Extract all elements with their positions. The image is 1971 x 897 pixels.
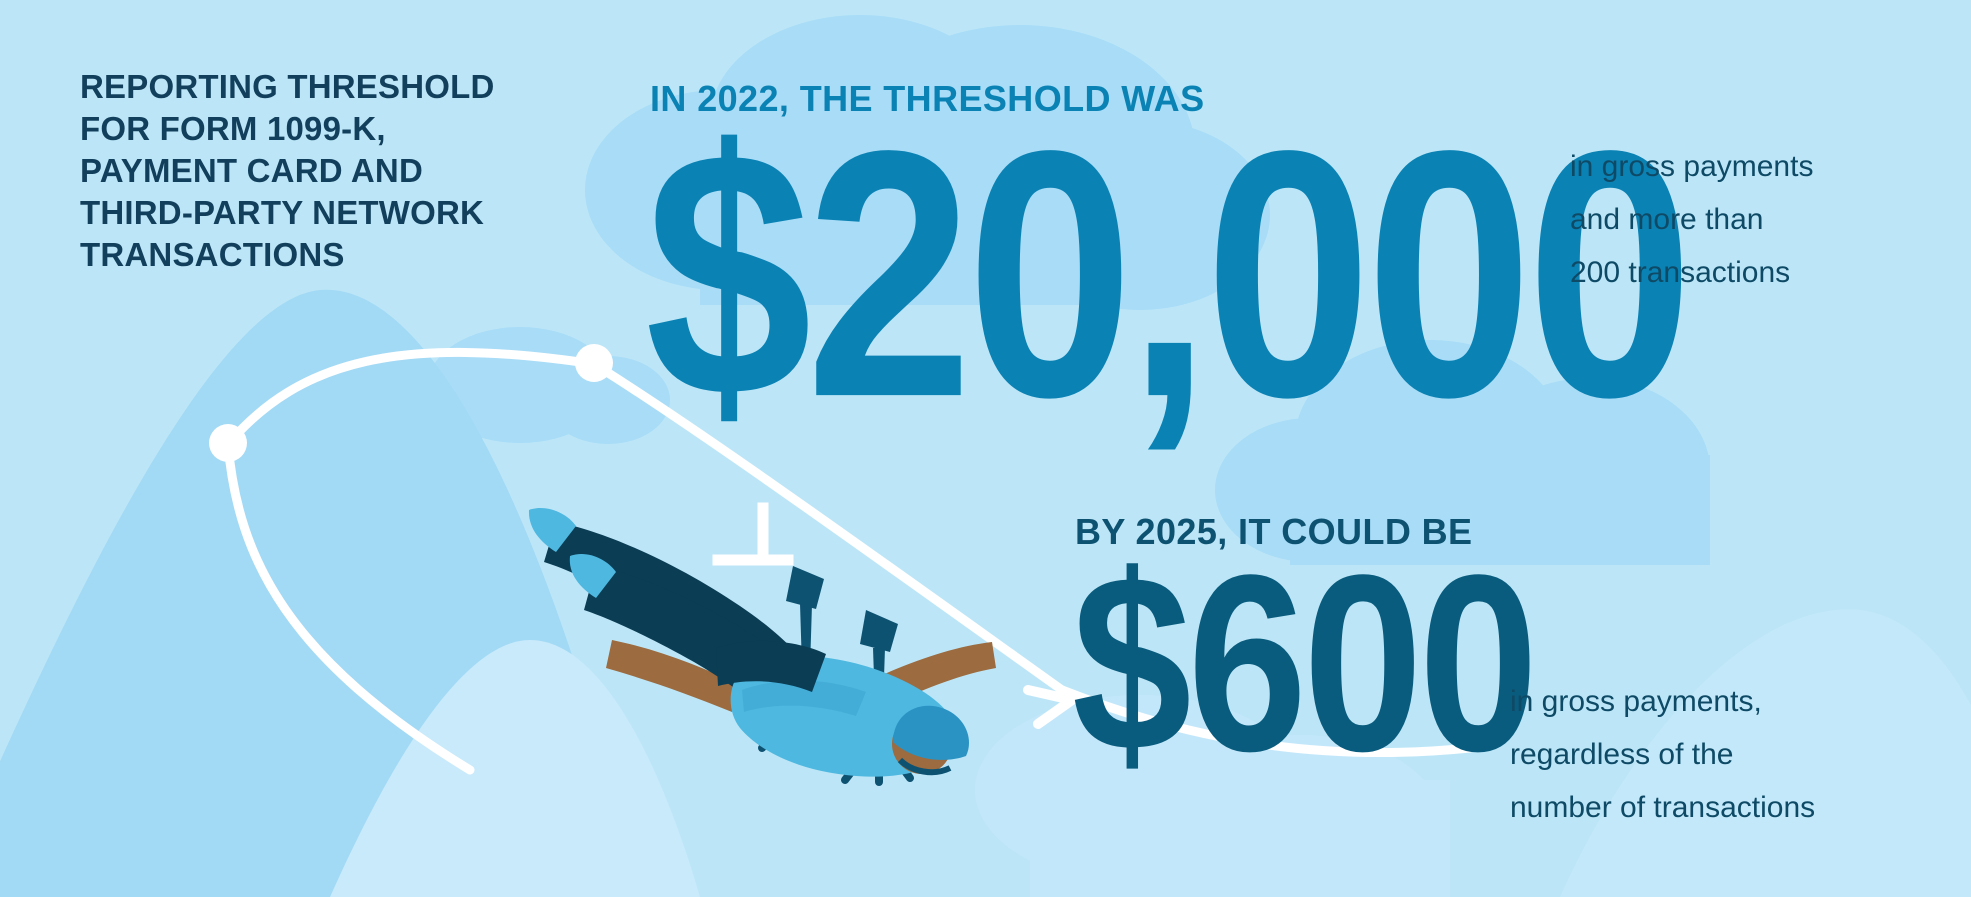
stat-2022-amount: $20,000 [645,98,1687,449]
title-line-1: REPORTING THRESHOLD [80,66,600,108]
stat-2025-amount: $600 [1072,537,1534,789]
title-line-2: FOR FORM 1099-K, [80,108,600,150]
stat-2025-note-line-2: regardless of the [1510,728,1910,781]
stat-2022-note-line-2: and more than [1570,193,1900,246]
title-line-4: THIRD-PARTY NETWORK [80,192,600,234]
stat-2022-note-line-3: 200 transactions [1570,246,1900,299]
stat-2025-note: in gross payments, regardless of the num… [1510,675,1910,834]
page-title: REPORTING THRESHOLD FOR FORM 1099-K, PAY… [80,66,600,276]
stat-2022-note-line-1: in gross payments [1570,140,1900,193]
stat-2025-note-line-1: in gross payments, [1510,675,1910,728]
title-line-5: TRANSACTIONS [80,234,600,276]
title-line-3: PAYMENT CARD AND [80,150,600,192]
stat-2022-note: in gross payments and more than 200 tran… [1570,140,1900,299]
infographic-canvas: REPORTING THRESHOLD FOR FORM 1099-K, PAY… [0,0,1971,897]
stat-2025-note-line-3: number of transactions [1510,781,1910,834]
